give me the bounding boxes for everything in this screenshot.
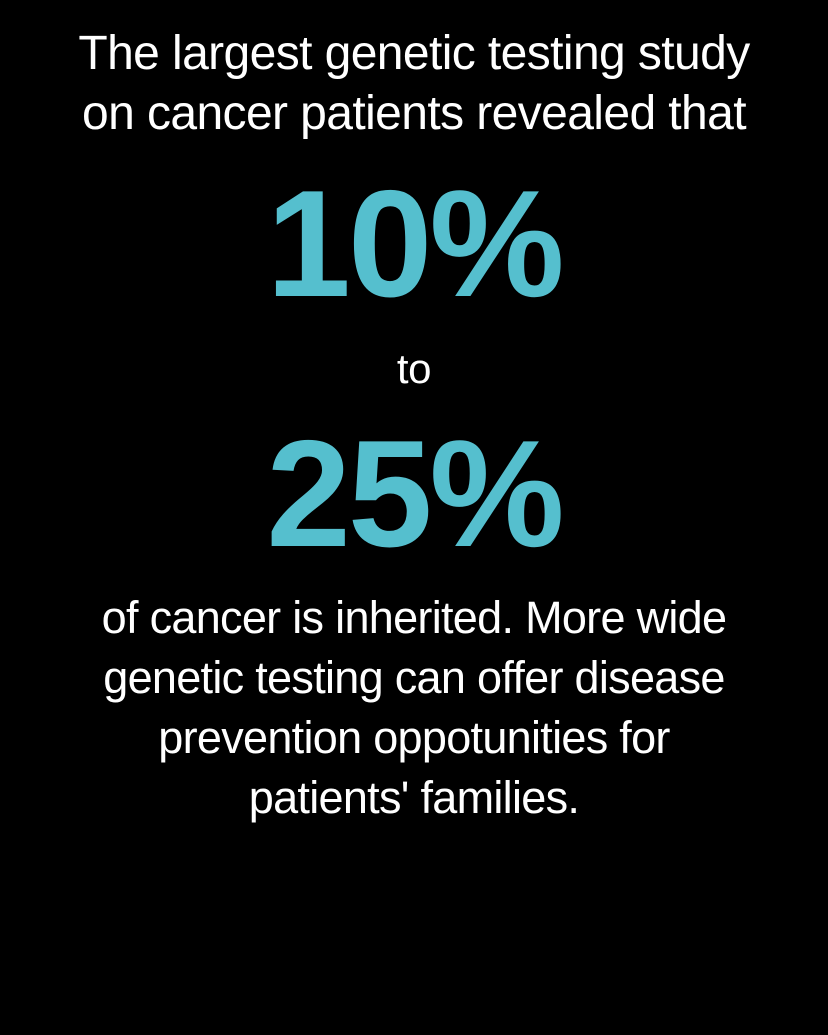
statistic-connector: to: [0, 343, 828, 395]
statistic-low-value: 10%: [0, 168, 828, 320]
headline: The largest genetic testing study on can…: [0, 24, 828, 144]
body-line-1: of cancer is inherited. More wide: [26, 588, 802, 648]
headline-line-2: on cancer patients revealed that: [26, 84, 802, 144]
body-line-4: patients' families.: [26, 768, 802, 828]
infographic-card: The largest genetic testing study on can…: [0, 0, 828, 1035]
body-line-2: genetic testing can offer disease: [26, 648, 802, 708]
statistic-high-value: 25%: [0, 418, 828, 570]
body-copy: of cancer is inherited. More wide geneti…: [0, 588, 828, 828]
body-line-3: prevention oppotunities for: [26, 708, 802, 768]
footer-space: [0, 830, 828, 1035]
headline-line-1: The largest genetic testing study: [26, 24, 802, 84]
